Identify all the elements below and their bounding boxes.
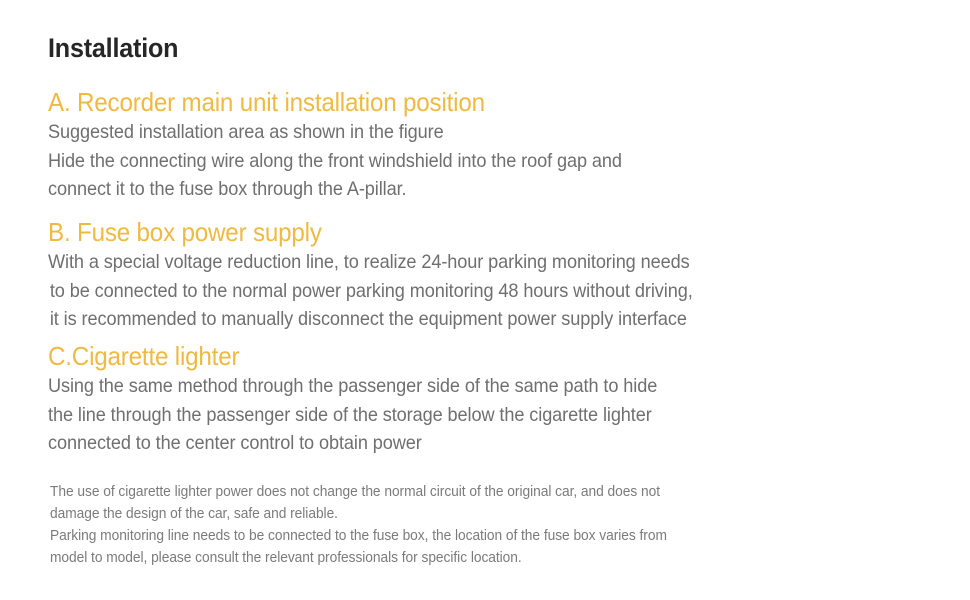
footnote-line-4: model to model, please consult the relev… bbox=[50, 547, 905, 569]
section-heading-c: C.Cigarette lighter bbox=[48, 342, 885, 370]
section-b-line-3: it is recommended to manually disconnect… bbox=[48, 305, 885, 333]
footnotes: The use of cigarette lighter power does … bbox=[50, 481, 950, 569]
section-c-line-3: connected to the center control to obtai… bbox=[48, 429, 885, 457]
footnote-line-2: damage the design of the car, safe and r… bbox=[50, 503, 905, 525]
section-cigarette-lighter: C.Cigarette lighter Using the same metho… bbox=[48, 342, 948, 457]
section-heading-b: B. Fuse box power supply bbox=[48, 218, 885, 246]
section-recorder-main-unit: A. Recorder main unit installation posit… bbox=[48, 88, 948, 203]
section-c-line-2: the line through the passenger side of t… bbox=[48, 401, 885, 429]
page-title: Installation bbox=[48, 34, 178, 62]
footnote-line-3: Parking monitoring line needs to be conn… bbox=[50, 525, 905, 547]
section-a-line-3: connect it to the fuse box through the A… bbox=[48, 175, 885, 203]
installation-page: Installation A. Recorder main unit insta… bbox=[0, 0, 970, 600]
section-b-line-1: With a special voltage reduction line, t… bbox=[48, 248, 885, 276]
section-heading-a: A. Recorder main unit installation posit… bbox=[48, 88, 885, 116]
section-b-line-2: to be connected to the normal power park… bbox=[48, 277, 885, 305]
section-fuse-box-power-supply: B. Fuse box power supply With a special … bbox=[48, 218, 948, 333]
section-a-line-1: Suggested installation area as shown in … bbox=[48, 118, 885, 146]
section-c-line-1: Using the same method through the passen… bbox=[48, 372, 885, 400]
section-a-line-2: Hide the connecting wire along the front… bbox=[48, 147, 885, 175]
footnote-line-1: The use of cigarette lighter power does … bbox=[50, 481, 905, 503]
